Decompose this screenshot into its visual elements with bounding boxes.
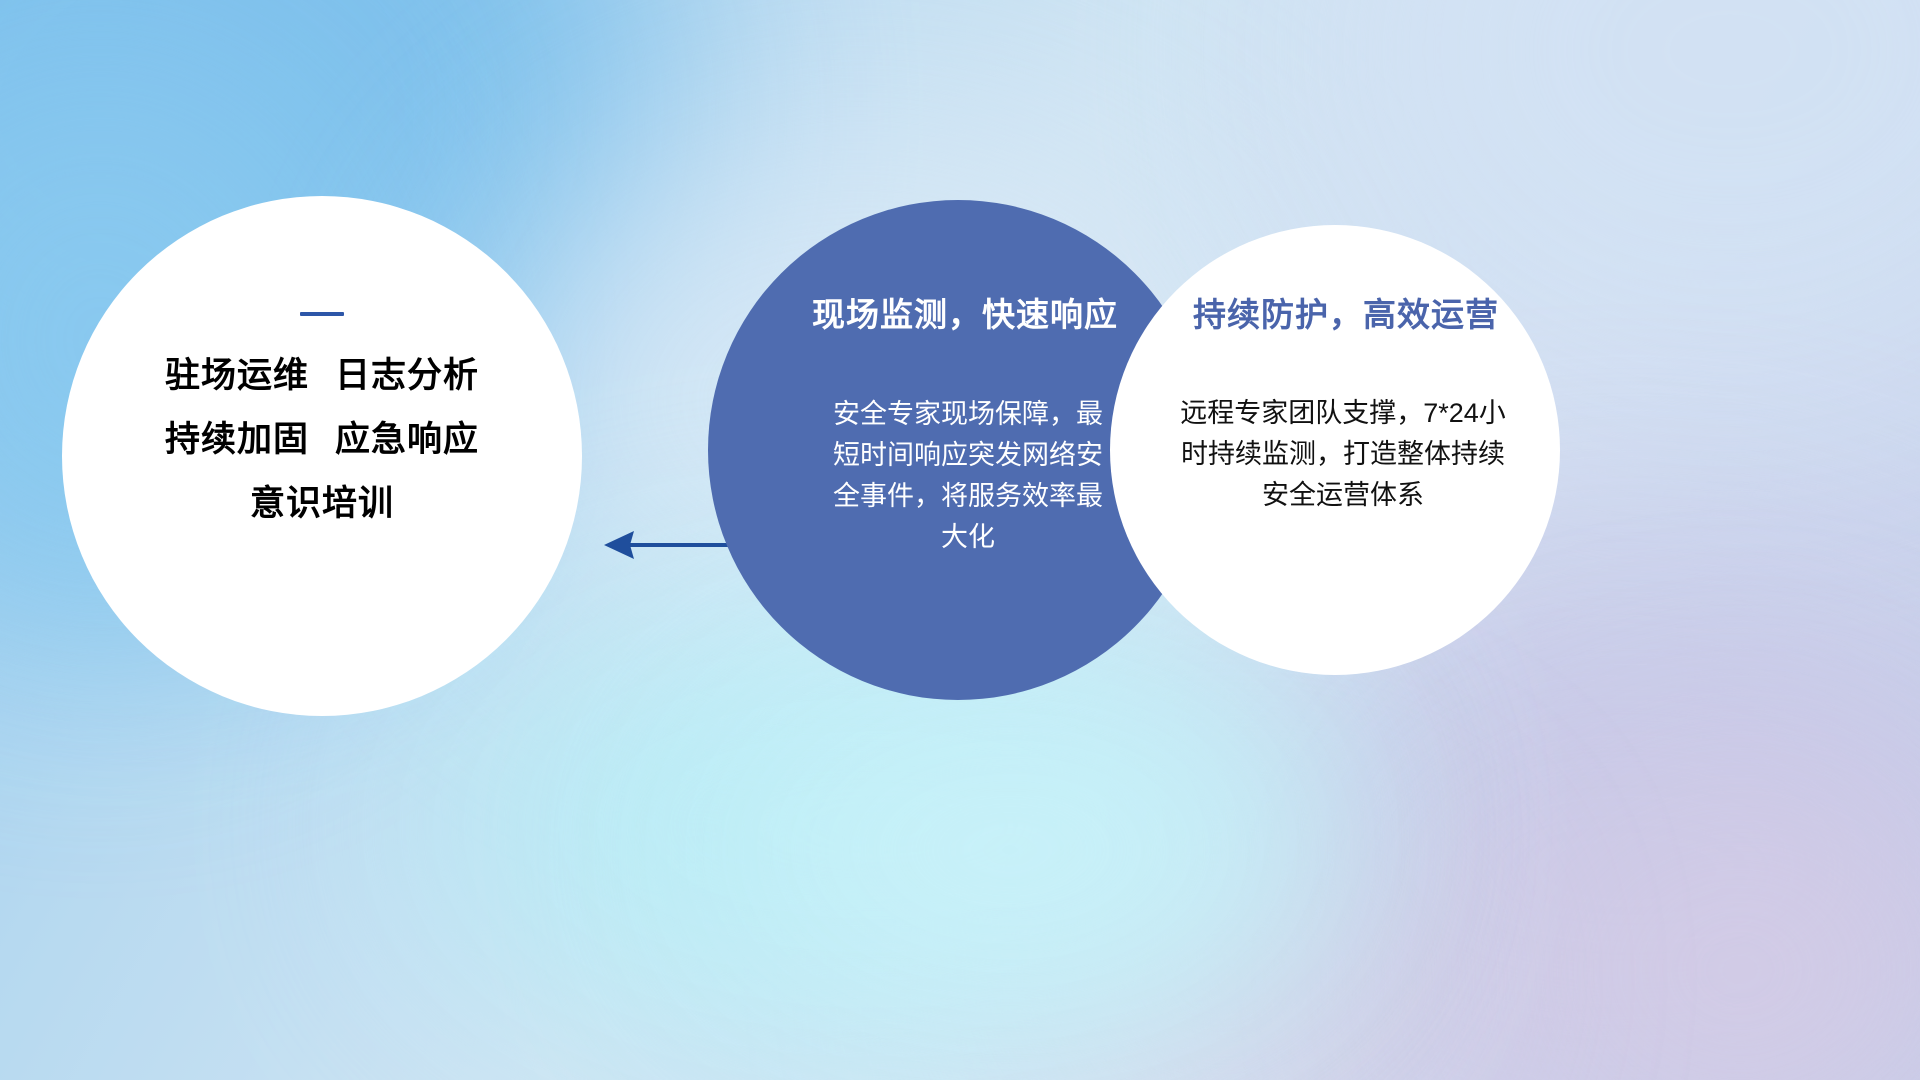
background-blob-cyan-secondary [700, 700, 1320, 1000]
divider-dash [300, 312, 344, 316]
left-keyword-2: 日志分析 [335, 356, 479, 395]
left-circle-line-3: 意识培训 [250, 486, 394, 521]
left-circle-line-2: 持续加固应急响应 [165, 422, 479, 457]
left-keyword-3: 持续加固 [165, 420, 309, 459]
left-keyword-4: 应急响应 [335, 420, 479, 459]
left-keyword-5: 意识培训 [250, 484, 394, 523]
middle-circle-title: 现场监测，快速响应 [812, 288, 1118, 336]
right-circle-body: 远程专家团队支撑，7*24小时持续监测，打造整体持续安全运营体系 [1173, 393, 1513, 516]
middle-circle-body: 安全专家现场保障，最短时间响应突发网络安全事件，将服务效率最大化 [820, 394, 1116, 558]
left-circle-line-1: 驻场运维日志分析 [165, 358, 479, 393]
right-circle-title: 持续防护，高效运营 [1193, 288, 1499, 336]
slide-canvas: 驻场运维日志分析 持续加固应急响应 意识培训 现场监测，快速响应 安全专家现场保… [0, 0, 1920, 1080]
right-circle-content: 持续防护，高效运营 远程专家团队支撑，7*24小时持续监测，打造整体持续安全运营… [1110, 225, 1560, 675]
left-circle-content: 驻场运维日志分析 持续加固应急响应 意识培训 [62, 196, 582, 716]
left-keyword-1: 驻场运维 [165, 356, 309, 395]
